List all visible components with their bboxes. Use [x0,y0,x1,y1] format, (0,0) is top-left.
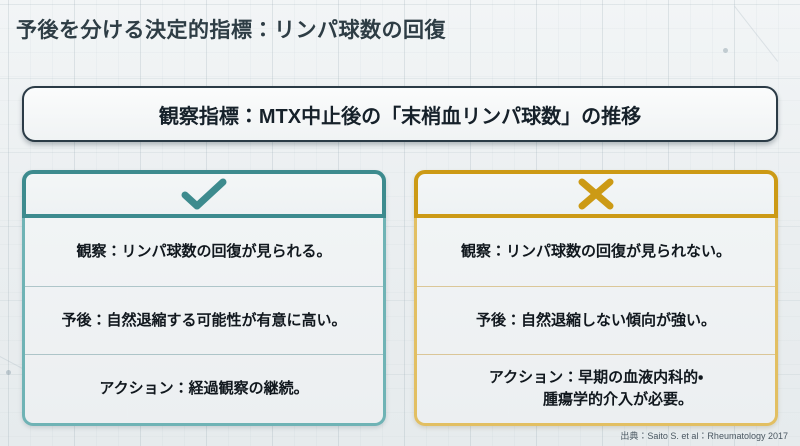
row-action-line-1: アクション：早期の血液内科的・ [489,367,703,389]
grid-node-dot [723,48,728,53]
panel-unfavorable-header [414,170,778,218]
list-item: 予後：自然退縮する可能性が有意に高い。 [25,286,383,355]
row-prognosis: 予後：自然退縮しない傾向が強い。 [476,310,716,332]
row-action: アクション：経過観察の継続。 [99,378,308,400]
grid-diagonal [734,6,778,62]
source-citation: 出典：Saito S. et al：Rheumatology 2017 [620,429,788,442]
panel-favorable-body: 観察：リンパ球数の回復が見られる。 予後：自然退縮する可能性が有意に高い。 アク… [22,218,386,426]
slide-canvas: 予後を分ける決定的指標：リンパ球数の回復 観察指標：MTX中止後の「末梢血リンパ… [0,0,800,446]
observation-metric-text: 観察指標：MTX中止後の「末梢血リンパ球数」の推移 [159,100,641,129]
list-item: アクション：経過観察の継続。 [25,354,383,423]
list-item: 観察：リンパ球数の回復が見られない。 [417,218,775,286]
list-item: 予後：自然退縮しない傾向が強い。 [417,286,775,355]
cross-icon [576,178,616,210]
panel-unfavorable-body: 観察：リンパ球数の回復が見られない。 予後：自然退縮しない傾向が強い。 アクショ… [414,218,778,426]
row-action-line-2: 腫瘍学的介入が必要。 [489,389,703,411]
list-item: 観察：リンパ球数の回復が見られる。 [25,218,383,286]
panel-favorable-header [22,170,386,218]
check-icon [181,178,227,210]
panel-unfavorable: 観察：リンパ球数の回復が見られない。 予後：自然退縮しない傾向が強い。 アクショ… [414,170,778,426]
list-item: アクション：早期の血液内科的・ 腫瘍学的介入が必要。 [417,354,775,423]
row-prognosis: 予後：自然退縮する可能性が有意に高い。 [61,310,346,332]
page-title: 予後を分ける決定的指標：リンパ球数の回復 [16,14,446,44]
row-observation: 観察：リンパ球数の回復が見られる。 [76,241,331,263]
comparison-columns: 観察：リンパ球数の回復が見られる。 予後：自然退縮する可能性が有意に高い。 アク… [22,170,778,426]
row-action: アクション：早期の血液内科的・ 腫瘍学的介入が必要。 [489,367,703,411]
row-observation: 観察：リンパ球数の回復が見られない。 [461,241,731,263]
grid-node-dot [6,370,11,375]
observation-metric-banner: 観察指標：MTX中止後の「末梢血リンパ球数」の推移 [22,86,778,142]
panel-favorable: 観察：リンパ球数の回復が見られる。 予後：自然退縮する可能性が有意に高い。 アク… [22,170,386,426]
